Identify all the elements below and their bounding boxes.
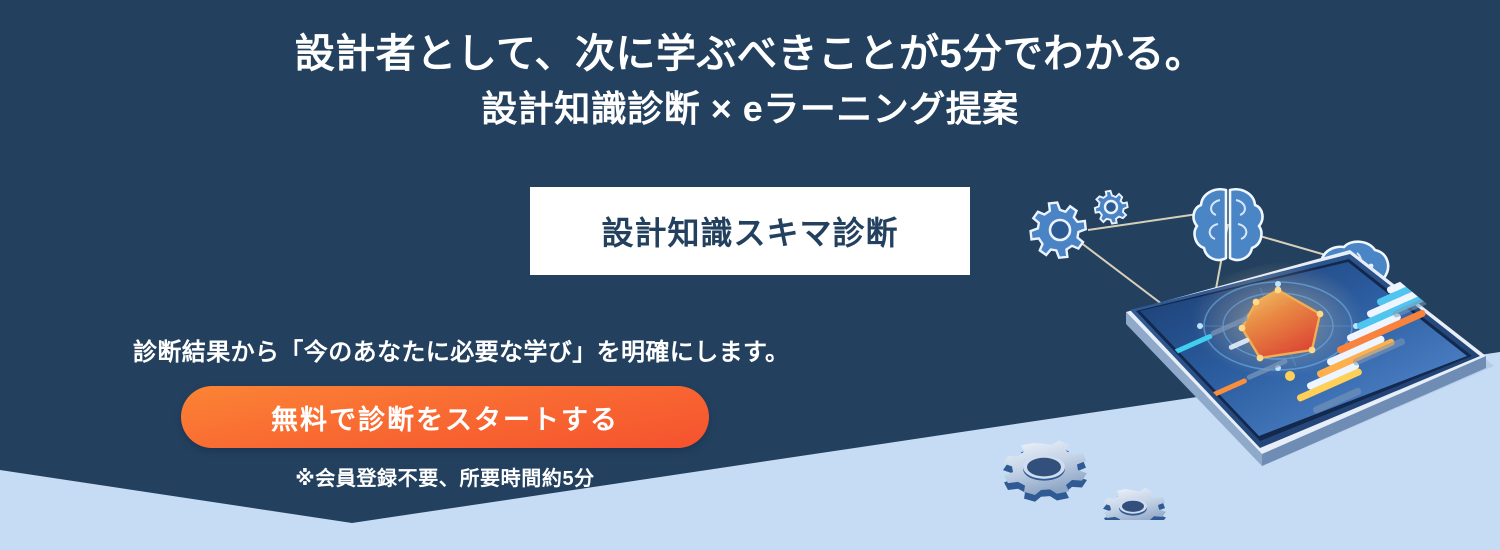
gear-3d-small-icon: [1103, 488, 1166, 520]
diagnosis-title-chip-label: 設計知識スキマ診断: [601, 208, 898, 254]
hero-illustration: [960, 180, 1500, 520]
diagnosis-title-chip[interactable]: 設計知識スキマ診断: [530, 187, 970, 275]
headline: 設計者として、次に学ぶべきことが5分でわかる。 設計知識診断 × eラーニング提…: [0, 26, 1500, 134]
lead-text: 診断結果から「今のあなたに必要な学び」を明確にします。: [133, 332, 789, 367]
gear-large-outline-icon: [1031, 203, 1086, 258]
promo-banner: 設計者として、次に学ぶべきことが5分でわかる。 設計知識診断 × eラーニング提…: [0, 0, 1500, 550]
gear-small-outline-icon: [1095, 191, 1128, 224]
tablet-isometric: [1126, 250, 1486, 466]
note-text: ※会員登録不要、所要時間約5分: [0, 462, 890, 491]
headline-line-1: 設計者として、次に学ぶべきことが5分でわかる。: [295, 32, 1206, 76]
start-diagnosis-button-label: 無料で診断をスタートする: [271, 398, 619, 437]
headline-line-2: 設計知識診断 × eラーニング提案: [0, 83, 1500, 134]
start-diagnosis-button[interactable]: 無料で診断をスタートする: [181, 386, 709, 448]
gear-3d-large-icon: [1003, 440, 1087, 501]
